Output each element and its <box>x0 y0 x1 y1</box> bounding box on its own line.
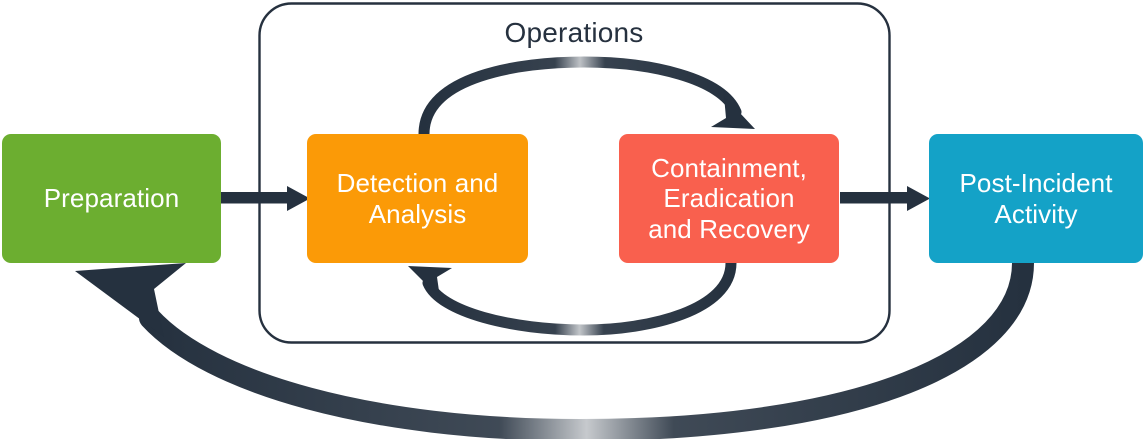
phase-label-line: Preparation <box>44 183 180 213</box>
arrow-containment-to-detection <box>408 263 731 330</box>
phase-label-line: and Recovery <box>648 214 810 244</box>
phase-label-post-incident-activity: Post-Incident Activity <box>959 168 1112 228</box>
phase-label-line: Activity <box>959 199 1112 229</box>
phase-label-line: Containment, <box>648 153 810 183</box>
arrow-detection-to-containment <box>424 62 755 134</box>
phase-label-line: Eradication <box>648 183 810 213</box>
operations-group-label: Operations <box>258 17 890 49</box>
phase-label-preparation: Preparation <box>44 183 180 213</box>
phase-label-line: Post-Incident <box>959 168 1112 198</box>
phase-label-containment-eradication-recovery: Containment, Eradication and Recovery <box>648 153 810 243</box>
phase-label-detection-and-analysis: Detection and Analysis <box>337 168 499 228</box>
incident-response-lifecycle-diagram: Operations Preparation Detection and Ana… <box>0 0 1145 439</box>
phase-label-line: Analysis <box>337 199 499 229</box>
phase-box-detection-and-analysis[interactable]: Detection and Analysis <box>307 134 528 263</box>
phase-box-preparation[interactable]: Preparation <box>2 134 221 263</box>
phase-label-line: Detection and <box>337 168 499 198</box>
phase-box-post-incident-activity[interactable]: Post-Incident Activity <box>929 134 1143 263</box>
arrow-preparation-to-detection <box>221 186 310 211</box>
arrow-containment-to-post-incident <box>840 186 930 211</box>
arrow-post-incident-to-preparation <box>75 263 1023 430</box>
phase-box-containment-eradication-recovery[interactable]: Containment, Eradication and Recovery <box>619 134 839 263</box>
